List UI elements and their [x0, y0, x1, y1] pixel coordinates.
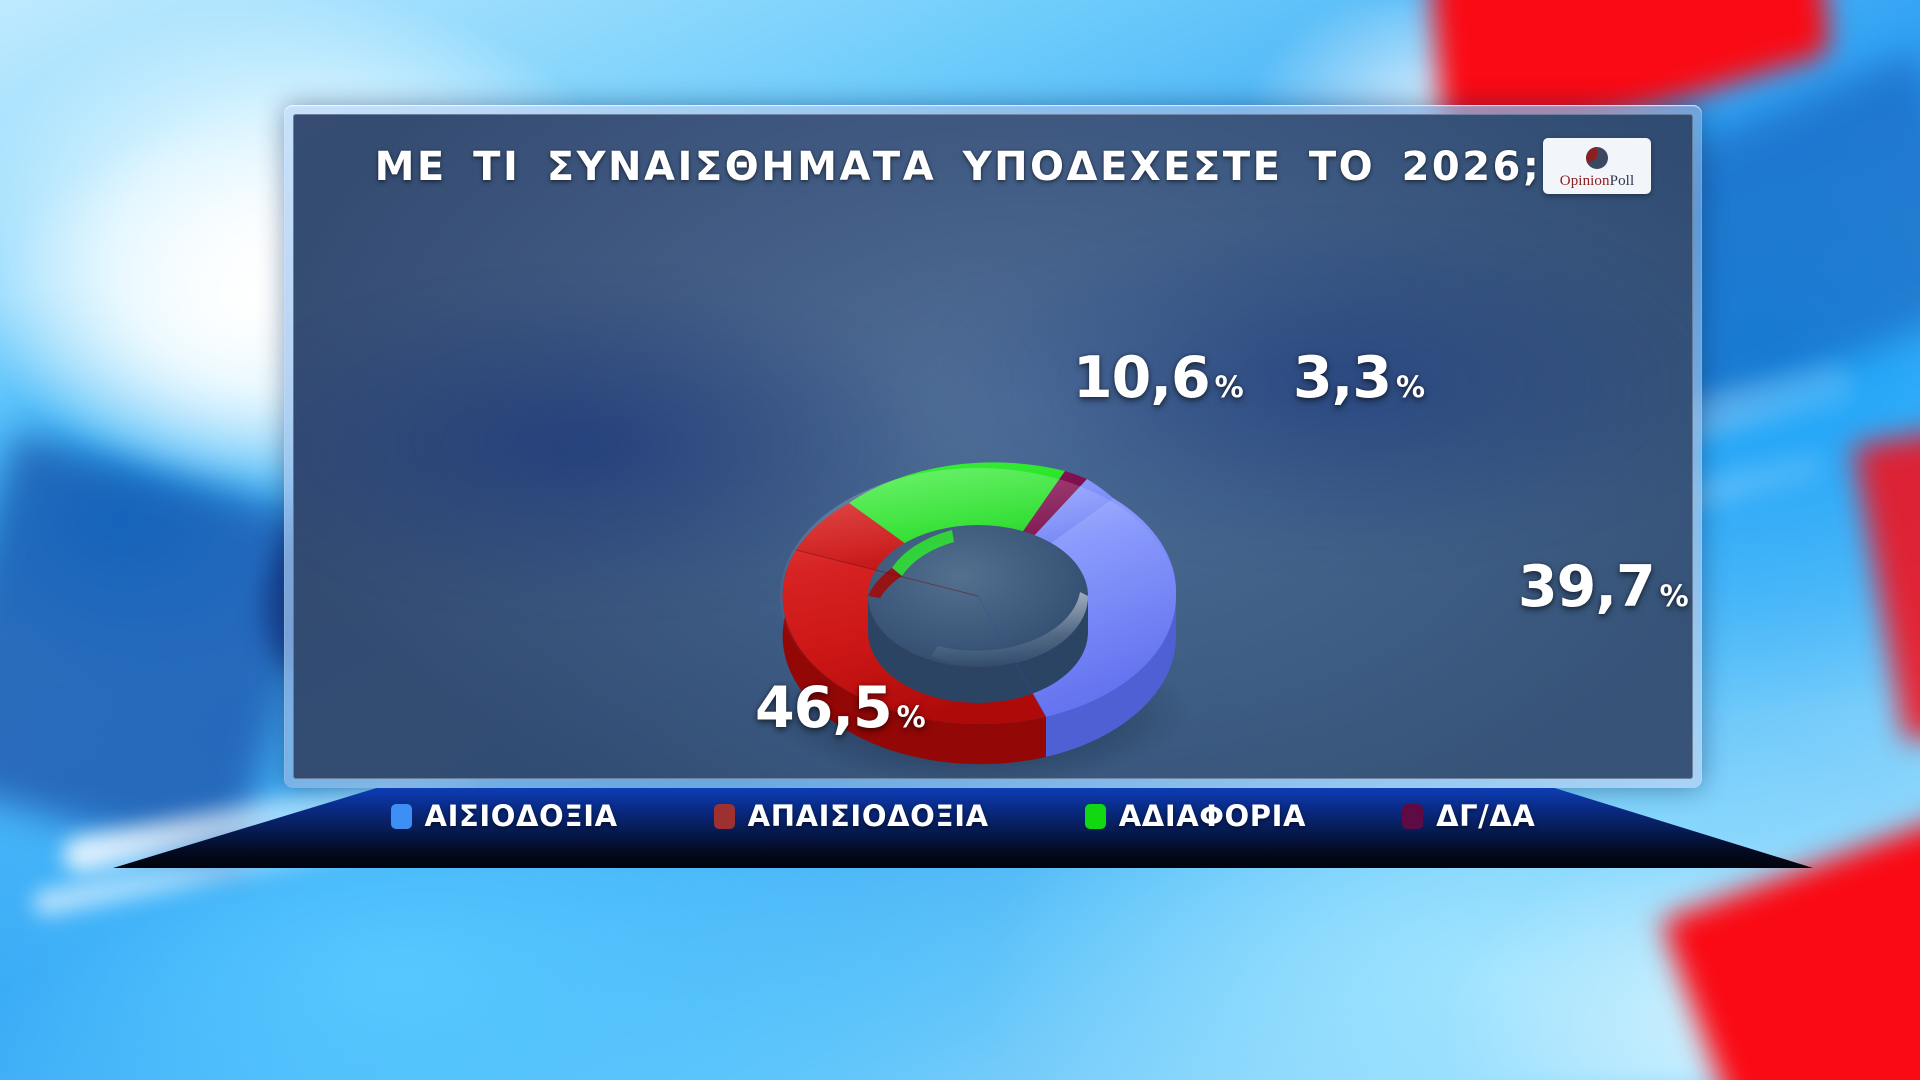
- opinionpoll-logo: OpinionPoll: [1543, 138, 1651, 194]
- value-number: 3,3: [1293, 345, 1391, 411]
- logo-circle-icon: [1582, 143, 1612, 173]
- value-number: 10,6: [1073, 345, 1210, 411]
- value-label-apaisiodoxia: 46,5%: [755, 680, 926, 737]
- legend-item-adiaforia: ΑΔΙΑΦΟΡΙΑ: [1085, 802, 1306, 831]
- legend-swatch-icon: [1402, 804, 1423, 829]
- chart-panel-inner: ΜΕ ΤΙ ΣΥΝΑΙΣΘΗΜΑΤΑ ΥΠΟΔΕΧΕΣΤΕ ΤΟ 2026; O…: [293, 114, 1693, 779]
- legend-swatch-icon: [391, 804, 412, 829]
- page-title: ΜΕ ΤΙ ΣΥΝΑΙΣΘΗΜΑΤΑ ΥΠΟΔΕΧΕΣΤΕ ΤΟ 2026;: [293, 144, 1693, 190]
- value-number: 46,5: [755, 675, 892, 741]
- value-unit: %: [897, 700, 926, 734]
- legend-label: ΔΓ/ΔΑ: [1436, 802, 1535, 831]
- value-label-dg-da: 3,3%: [1293, 350, 1425, 407]
- legend-label: ΑΙΣΙΟΔΟΞΙΑ: [425, 802, 618, 831]
- value-unit: %: [1396, 370, 1425, 404]
- legend-item-dg-da: ΔΓ/ΔΑ: [1402, 802, 1535, 831]
- logo-text: OpinionPoll: [1560, 174, 1634, 189]
- legend-bar: ΑΙΣΙΟΔΟΞΙΑ ΑΠΑΙΣΙΟΔΟΞΙΑ ΑΔΙΑΦΟΡΙΑ ΔΓ/ΔΑ: [113, 788, 1813, 868]
- legend-item-apaisiodoxia: ΑΠΑΙΣΙΟΔΟΞΙΑ: [714, 802, 989, 831]
- legend-item-aisiodoxia: ΑΙΣΙΟΔΟΞΙΑ: [391, 802, 618, 831]
- value-number: 39,7: [1518, 554, 1655, 620]
- value-label-adiaforia: 10,6%: [1073, 350, 1244, 407]
- legend-swatch-icon: [1085, 804, 1106, 829]
- logo-text-poll: Poll: [1610, 173, 1635, 189]
- logo-text-opinion: Opinion: [1560, 173, 1610, 189]
- chart-panel: ΜΕ ΤΙ ΣΥΝΑΙΣΘΗΜΑΤΑ ΥΠΟΔΕΧΕΣΤΕ ΤΟ 2026; O…: [284, 105, 1702, 788]
- legend-swatch-icon: [714, 804, 735, 829]
- broadcast-graphic: opinion ΜΕ ΤΙ ΣΥΝΑΙΣΘΗΜΑΤΑ ΥΠΟΔΕΧΕΣΤΕ ΤΟ…: [0, 0, 1920, 1080]
- legend-items: ΑΙΣΙΟΔΟΞΙΑ ΑΠΑΙΣΙΟΔΟΞΙΑ ΑΔΙΑΦΟΡΙΑ ΔΓ/ΔΑ: [113, 788, 1813, 845]
- value-unit: %: [1660, 579, 1689, 613]
- legend-label: ΑΔΙΑΦΟΡΙΑ: [1119, 802, 1306, 831]
- legend-label: ΑΠΑΙΣΙΟΔΟΞΙΑ: [748, 802, 989, 831]
- value-label-aisiodoxia: 39,7%: [1518, 559, 1689, 616]
- value-unit: %: [1215, 370, 1244, 404]
